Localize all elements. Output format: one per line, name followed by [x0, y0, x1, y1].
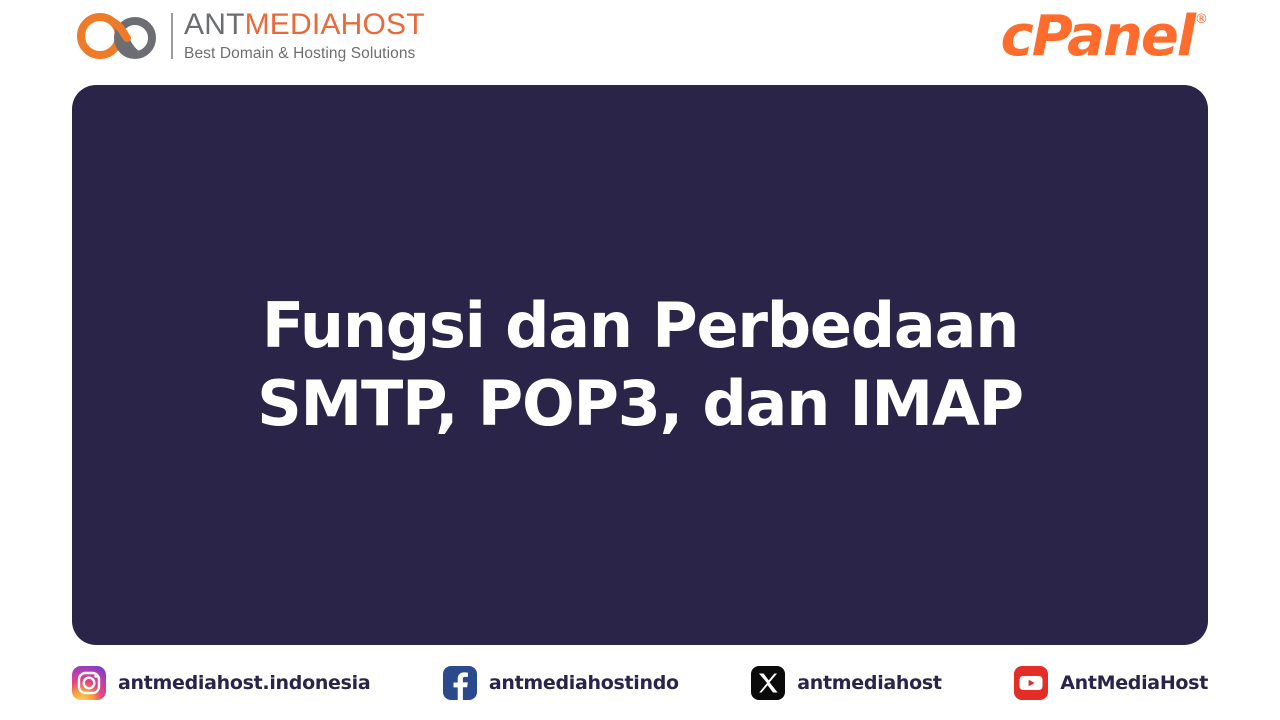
social-link-instagram[interactable]: antmediahost.indonesia — [72, 666, 370, 700]
x-twitter-icon — [751, 666, 785, 700]
social-link-youtube[interactable]: AntMediaHost — [1014, 666, 1208, 700]
brand-divider — [171, 13, 173, 59]
brand-wordmark: ANTMEDIAHOST Best Domain & Hosting Solut… — [184, 10, 425, 63]
slide-header: ANTMEDIAHOST Best Domain & Hosting Solut… — [0, 0, 1280, 85]
antmediahost-infinity-logo — [72, 10, 168, 62]
youtube-icon — [1014, 666, 1048, 700]
slide-canvas: ANTMEDIAHOST Best Domain & Hosting Solut… — [0, 0, 1280, 720]
antmediahost-brand: ANTMEDIAHOST Best Domain & Hosting Solut… — [72, 10, 425, 63]
social-handle-youtube: AntMediaHost — [1060, 672, 1208, 694]
social-handle-facebook: antmediahostindo — [489, 672, 679, 694]
social-link-x-twitter[interactable]: antmediahost — [751, 666, 941, 700]
social-handle-instagram: antmediahost.indonesia — [118, 672, 370, 694]
title-line-2: SMTP, POP3, dan IMAP — [257, 365, 1023, 443]
social-footer: antmediahost.indonesia antmediahostindo … — [0, 645, 1280, 720]
page-title: Fungsi dan Perbedaan SMTP, POP3, dan IMA… — [197, 287, 1083, 443]
registered-trademark-icon: ® — [1195, 12, 1208, 27]
brand-name-mediahost: MEDIAHOST — [245, 8, 425, 41]
brand-name-ant: ANT — [184, 8, 245, 41]
brand-name: ANTMEDIAHOST — [184, 10, 425, 41]
instagram-icon — [72, 666, 106, 700]
social-link-facebook[interactable]: antmediahostindo — [443, 666, 679, 700]
title-line-1: Fungsi dan Perbedaan — [257, 287, 1023, 365]
facebook-icon — [443, 666, 477, 700]
title-card: Fungsi dan Perbedaan SMTP, POP3, dan IMA… — [72, 85, 1208, 645]
social-links-list: antmediahost.indonesia antmediahostindo … — [72, 666, 1208, 700]
social-handle-x-twitter: antmediahost — [797, 672, 941, 694]
cpanel-logo: cPanel ® — [1001, 9, 1209, 65]
cpanel-wordmark: cPanel — [1001, 9, 1195, 65]
brand-tagline: Best Domain & Hosting Solutions — [184, 44, 425, 63]
